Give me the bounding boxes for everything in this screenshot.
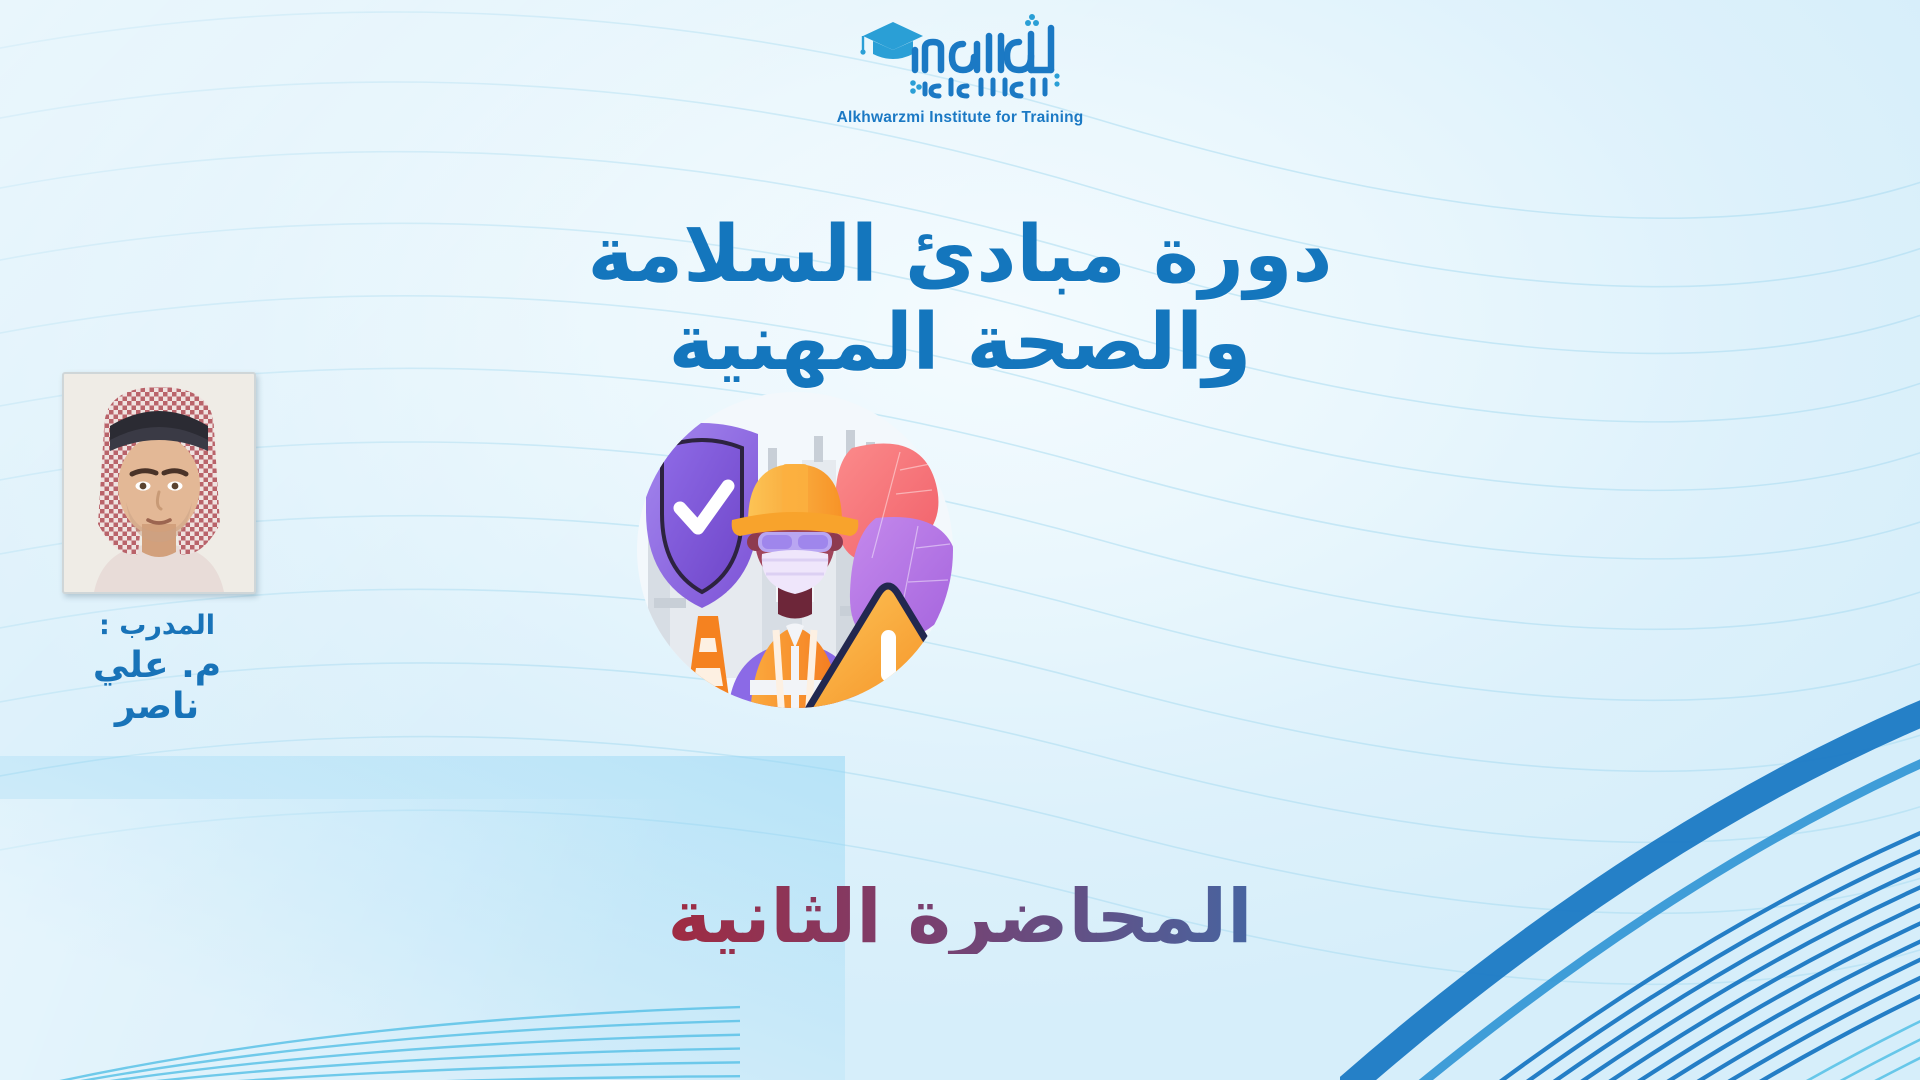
course-title-slide: Alkhwarzmi Institute for Training دورة م… [0,0,1920,1080]
lecture-number-label: المحاضرة الثانية [0,880,1920,954]
course-title: دورة مبادئ السلامة والصحة المهنية [0,212,1920,387]
instructor-block: المدرب : م. علي ناصر [58,372,256,727]
course-title-line-1: دورة مبادئ السلامة [588,210,1333,300]
institute-logo: Alkhwarzmi Institute for Training [810,14,1110,127]
instructor-name: م. علي ناصر [58,645,256,727]
alkhwarzmi-logo-mark [855,14,1065,108]
occupational-safety-illustration [600,390,990,730]
safety-goggles-icon [758,532,832,552]
instructor-role-label: المدرب : [58,610,256,641]
instructor-photo [62,372,256,594]
institute-name-english: Alkhwarzmi Institute for Training [810,109,1110,127]
course-title-line-2: والصحة المهنية [0,300,1920,387]
